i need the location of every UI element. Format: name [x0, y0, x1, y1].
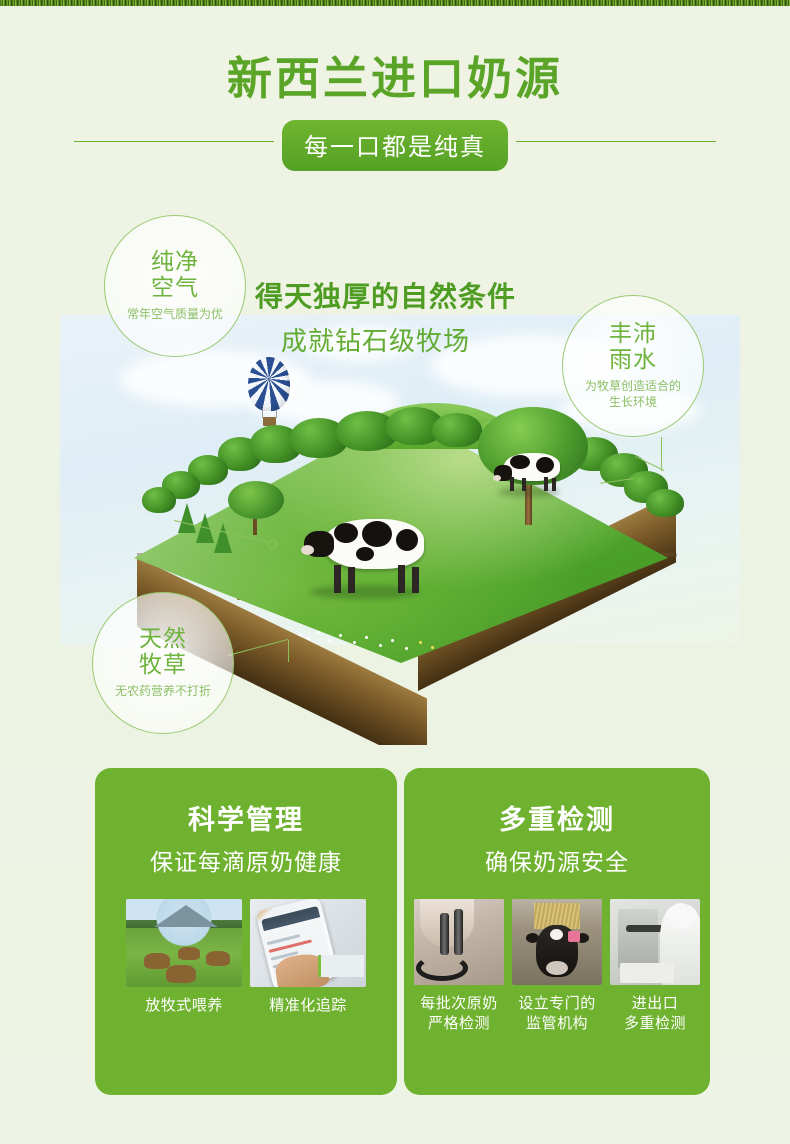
- treeline-bush: [646, 489, 684, 517]
- badge-title-line1: 丰沛: [609, 322, 657, 348]
- cow-grazing-far: [492, 447, 572, 497]
- caption-line1: 设立专门的: [512, 994, 602, 1014]
- feature-badge-pure-air[interactable]: 纯净 空气 常年空气质量为优: [104, 215, 246, 357]
- header-rule-right: [516, 141, 716, 142]
- badge-title-line2: 牧草: [139, 653, 187, 679]
- panel-title: 多重检测: [404, 798, 710, 837]
- small-tree-crown: [228, 481, 284, 519]
- wildflower-cluster: [295, 627, 455, 657]
- panel-multiple-testing[interactable]: 多重检测 确保奶源安全: [404, 768, 710, 1095]
- page-title: 新西兰进口奶源: [0, 52, 790, 107]
- panel-subtitle: 保证每滴原奶健康: [95, 843, 397, 877]
- hero-headline-line1: 得天独厚的自然条件: [255, 275, 516, 315]
- badge-title-line1: 纯净: [151, 250, 199, 276]
- panel-captions: 每批次原奶 严格检测 设立专门的 监管机构 进出口 多重检测: [404, 994, 710, 1033]
- hero-headline-line2: 成就钻石级牧场: [255, 321, 516, 358]
- cow-standing-front: [300, 513, 440, 599]
- badge-subtitle-line1: 为牧草创造适合的: [585, 379, 681, 394]
- milking-machine-photo[interactable]: [414, 899, 504, 985]
- panel-captions: 放牧式喂养 精准化追踪: [95, 996, 397, 1016]
- conifer-tree: [214, 523, 232, 553]
- feature-badge-natural-grass[interactable]: 天然 牧草 无农药营养不打折: [92, 592, 234, 734]
- subtitle-row: 每一口都是纯真: [0, 120, 790, 162]
- caption-line2: 监管机构: [512, 1014, 602, 1034]
- badge-subtitle-line2: 生长环境: [609, 395, 657, 410]
- header-rule-left: [74, 141, 274, 142]
- phone-tracking-photo[interactable]: [250, 899, 366, 987]
- subtitle-pill: 每一口都是纯真: [282, 120, 508, 171]
- panel-title: 科学管理: [95, 798, 397, 837]
- feature-panels: 科学管理 保证每滴原奶健康: [0, 768, 790, 1098]
- treeline-bush: [142, 487, 176, 513]
- caption-line2: 严格检测: [414, 1014, 504, 1034]
- panel-thumbnails: [95, 899, 397, 987]
- tagged-cow-photo[interactable]: [512, 899, 602, 985]
- badge-subtitle: 无农药营养不打折: [115, 684, 211, 699]
- page-header: 新西兰进口奶源 每一口都是纯真: [0, 52, 790, 162]
- thumbnail-caption: 设立专门的 监管机构: [512, 994, 602, 1033]
- treeline-bush: [432, 413, 482, 447]
- thumbnail-caption: 放牧式喂养: [126, 996, 242, 1016]
- panel-thumbnails: [404, 899, 710, 985]
- caption-line2: 多重检测: [610, 1014, 700, 1034]
- thumbnail-caption: 每批次原奶 严格检测: [414, 994, 504, 1033]
- thumbnail-caption: 进出口 多重检测: [610, 994, 700, 1033]
- panel-subtitle: 确保奶源安全: [404, 843, 710, 877]
- caption-line1: 每批次原奶: [414, 994, 504, 1014]
- conifer-tree: [178, 503, 196, 533]
- panel-scientific-management[interactable]: 科学管理 保证每滴原奶健康: [95, 768, 397, 1095]
- badge-subtitle: 常年空气质量为优: [127, 307, 223, 322]
- thumbnail-caption: 精准化追踪: [250, 996, 366, 1016]
- badge-title-line1: 天然: [139, 627, 187, 653]
- hero-headline: 得天独厚的自然条件 成就钻石级牧场: [255, 275, 516, 358]
- badge-title-line2: 雨水: [609, 348, 657, 374]
- feature-badge-abundant-rain[interactable]: 丰沛 雨水 为牧草创造适合的 生长环境: [562, 295, 704, 437]
- grazing-cattle-photo[interactable]: [126, 899, 242, 987]
- badge-title-line2: 空气: [151, 276, 199, 302]
- lab-technician-photo[interactable]: [610, 899, 700, 985]
- caption-line1: 进出口: [610, 994, 700, 1014]
